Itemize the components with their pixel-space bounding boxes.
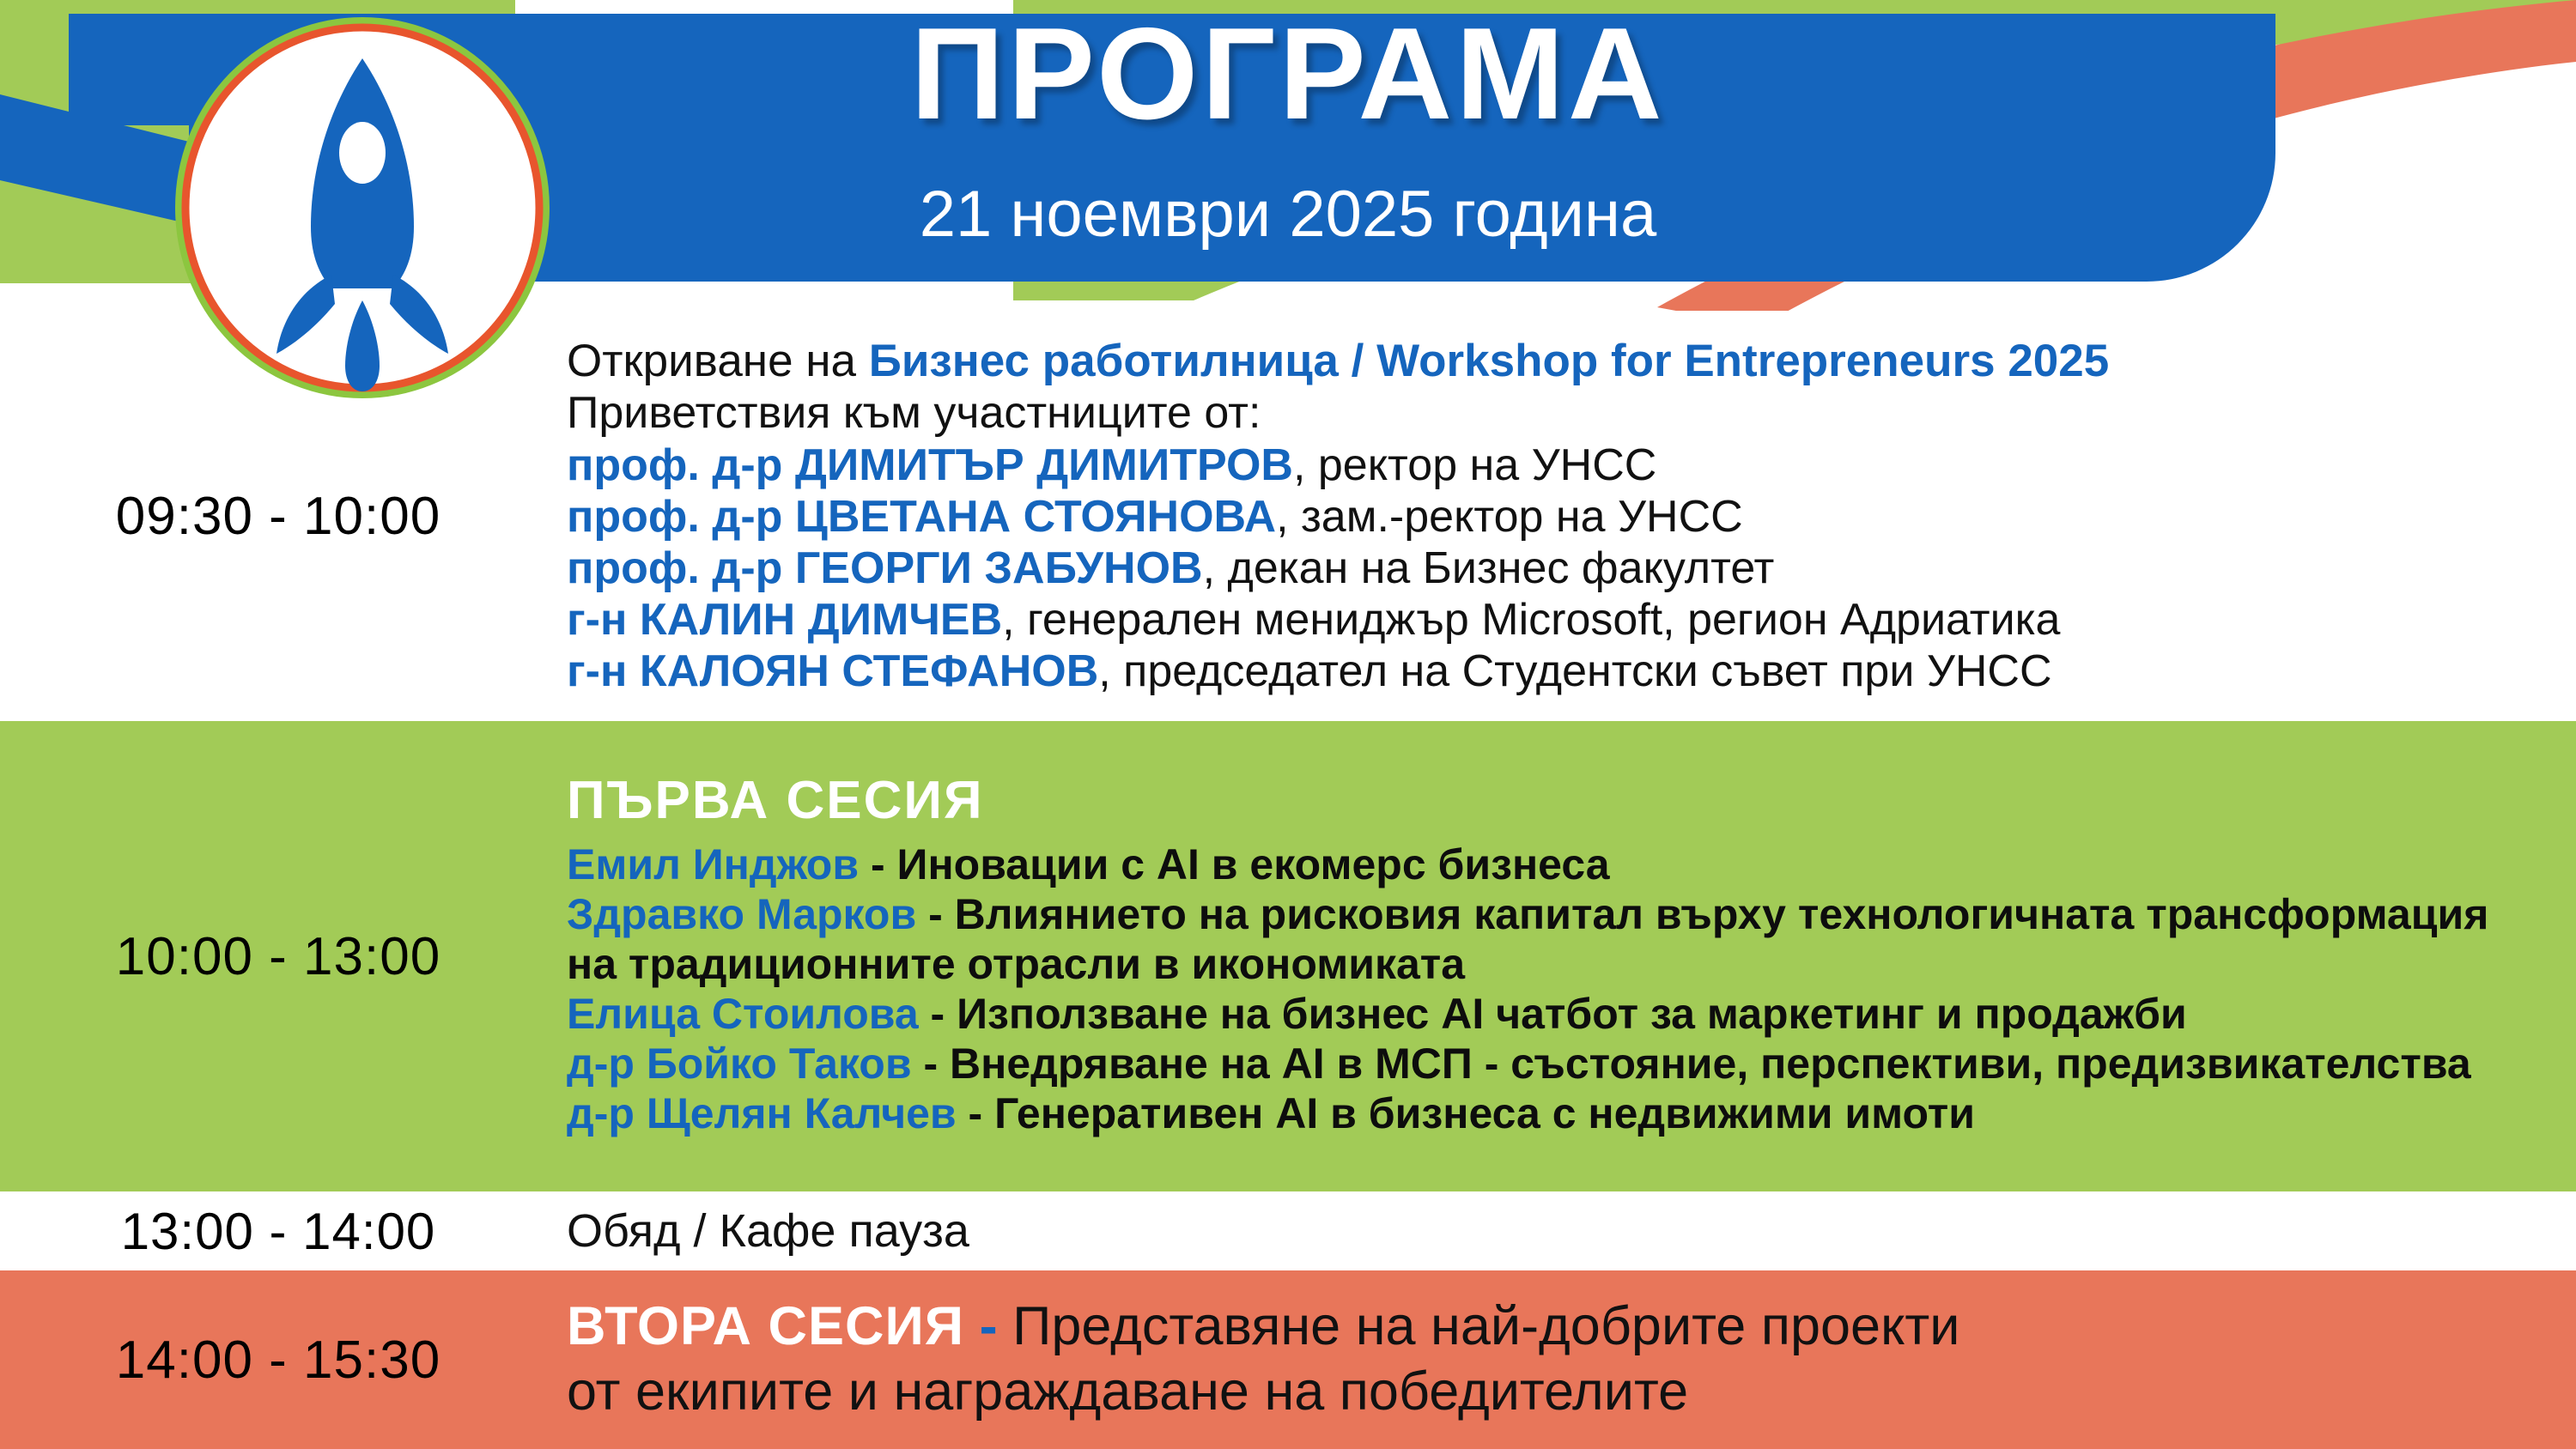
second-session-line1: ВТОРА СЕСИЯ - Представяне на най-добрите… xyxy=(567,1294,2550,1360)
opening-prefix: Откриване на xyxy=(567,336,869,386)
talk-separator: - xyxy=(957,1089,994,1137)
row-4-body: ВТОРА СЕСИЯ - Представяне на най-добрите… xyxy=(567,1294,2576,1424)
talk-separator: - xyxy=(859,840,896,888)
talk-item: Емил Инджов - Иновации с AI в екомерс би… xyxy=(567,840,2550,889)
greeter-item: проф. д-р ДИМИТЪР ДИМИТРОВ, ректор на УН… xyxy=(567,440,2550,491)
second-session-separator: - xyxy=(980,1296,998,1356)
greeter-name: проф. д-р ГЕОРГИ ЗАБУНОВ xyxy=(567,543,1203,593)
greeter-role: , генерален мениджър Microsoft, регион А… xyxy=(1002,595,2060,645)
talk-speaker: д-р Щелян Калчев xyxy=(567,1089,957,1137)
greeter-name: г-н КАЛОЯН СТЕФАНОВ xyxy=(567,646,1098,696)
greeter-name: г-н КАЛИН ДИМЧЕВ xyxy=(567,595,1002,645)
lunch-break-text: Обяд / Кафе пауза xyxy=(567,1205,969,1257)
opening-highlight: Бизнес работилница / Workshop for Entrep… xyxy=(869,336,2109,386)
greeter-item: г-н КАЛОЯН СТЕФАНОВ, председател на Студ… xyxy=(567,646,2550,697)
row-3-time: 13:00 - 14:00 xyxy=(0,1202,567,1261)
talk-topic: Иновации с AI в екомерс бизнеса xyxy=(897,840,1610,888)
talk-topic: Внедряване на AI в МСП - състояние, перс… xyxy=(950,1040,2471,1088)
talk-separator: - xyxy=(919,990,957,1038)
row-4-time: 14:00 - 15:30 xyxy=(0,1330,567,1391)
talk-speaker: Елица Стоилова xyxy=(567,990,919,1038)
row-1-greetings-label: Приветствия към участниците от: xyxy=(567,387,2550,439)
second-session-title: ВТОРА СЕСИЯ xyxy=(567,1296,964,1356)
talk-separator: - xyxy=(912,1040,950,1088)
row-1-opening: Откриване на Бизнес работилница / Worksh… xyxy=(567,335,2550,387)
greeter-item: проф. д-р ЦВЕТАНА СТОЯНОВА, зам.-ректор … xyxy=(567,491,2550,543)
talk-item: Здравко Марков - Влиянието на рисковия к… xyxy=(567,889,2550,989)
schedule-row-4: 14:00 - 15:30 ВТОРА СЕСИЯ - Представяне … xyxy=(0,1270,2576,1449)
talk-speaker: Емил Инджов xyxy=(567,840,859,888)
row-1-time: 09:30 - 10:00 xyxy=(0,486,567,547)
talk-separator: - xyxy=(916,890,954,938)
second-session-line2: от екипите и награждаване на победителит… xyxy=(567,1360,2550,1425)
rocket-icon xyxy=(172,17,554,399)
program-poster: ПРОГРАМА 21 ноември 2025 година 09:30 - … xyxy=(0,0,2576,1449)
greeter-role: , ректор на УНСС xyxy=(1293,440,1656,490)
greeter-item: г-н КАЛИН ДИМЧЕВ, генерален мениджър Mic… xyxy=(567,594,2550,646)
greeter-role: , декан на Бизнес факултет xyxy=(1203,543,1775,593)
talk-speaker: д-р Бойко Таков xyxy=(567,1040,912,1088)
greeter-role: , зам.-ректор на УНСС xyxy=(1276,492,1743,542)
schedule-row-2: 10:00 - 13:00 ПЪРВА СЕСИЯ Емил Инджов - … xyxy=(0,721,2576,1191)
row-2-time: 10:00 - 13:00 xyxy=(0,926,567,987)
talk-speaker: Здравко Марков xyxy=(567,890,916,938)
schedule-row-3: 13:00 - 14:00 Обяд / Кафе пауза xyxy=(0,1191,2576,1270)
second-session-description-1: Представяне на най-добрите проекти xyxy=(1012,1296,1959,1356)
talk-item: Елица Стоилова - Използване на бизнес AI… xyxy=(567,989,2550,1039)
talk-item: д-р Щелян Калчев - Генеративен AI в бизн… xyxy=(567,1088,2550,1138)
greeter-name: проф. д-р ДИМИТЪР ДИМИТРОВ xyxy=(567,440,1293,490)
greeter-item: проф. д-р ГЕОРГИ ЗАБУНОВ, декан на Бизне… xyxy=(567,543,2550,594)
first-session-title: ПЪРВА СЕСИЯ xyxy=(567,774,2550,828)
talk-topic: Използване на бизнес AI чатбот за маркет… xyxy=(957,990,2187,1038)
talk-item: д-р Бойко Таков - Внедряване на AI в МСП… xyxy=(567,1039,2550,1088)
row-1-body: Откриване на Бизнес работилница / Worksh… xyxy=(567,335,2576,696)
greeter-role: , председател на Студентски съвет при УН… xyxy=(1098,646,2051,696)
row-3-body: Обяд / Кафе пауза xyxy=(567,1204,2576,1258)
greeter-name: проф. д-р ЦВЕТАНА СТОЯНОВА xyxy=(567,492,1276,542)
talk-topic: Генеративен AI в бизнеса с недвижими имо… xyxy=(994,1089,1975,1137)
row-2-body: ПЪРВА СЕСИЯ Емил Инджов - Иновации с AI … xyxy=(567,774,2576,1138)
